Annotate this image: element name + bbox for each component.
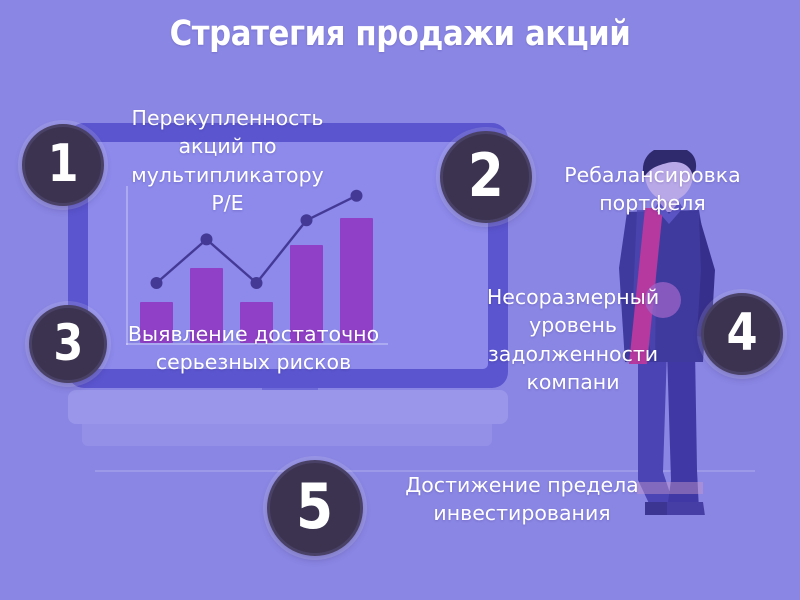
monitor-base [68,390,508,424]
step-badge-4[interactable]: 4 [701,293,783,375]
infographic-canvas: Стратегия продажи акций [0,0,800,600]
step-badge-2-number: 2 [468,146,504,206]
step-label-4: Несоразмерный уровень задолженности комп… [448,283,698,396]
step-badge-1-number: 1 [47,138,78,190]
step-badge-3[interactable]: 3 [29,305,107,383]
step-label-1: Перекупленность акций по мультипликатору… [95,104,360,217]
step-badge-5[interactable]: 5 [267,460,363,556]
step-badge-1[interactable]: 1 [22,124,104,206]
step-badge-2[interactable]: 2 [440,131,532,223]
step-label-5: Достижение предела инвестирования [372,471,672,528]
step-badge-4-number: 4 [726,307,757,359]
step-badge-3-number: 3 [53,318,83,368]
step-label-2: Ребалансировка портфеля [520,161,785,218]
page-title: Стратегия продажи акций [48,14,752,54]
step-badge-5-number: 5 [296,476,333,538]
step-label-3: Выявление достаточно серьезных рисков [86,320,421,377]
